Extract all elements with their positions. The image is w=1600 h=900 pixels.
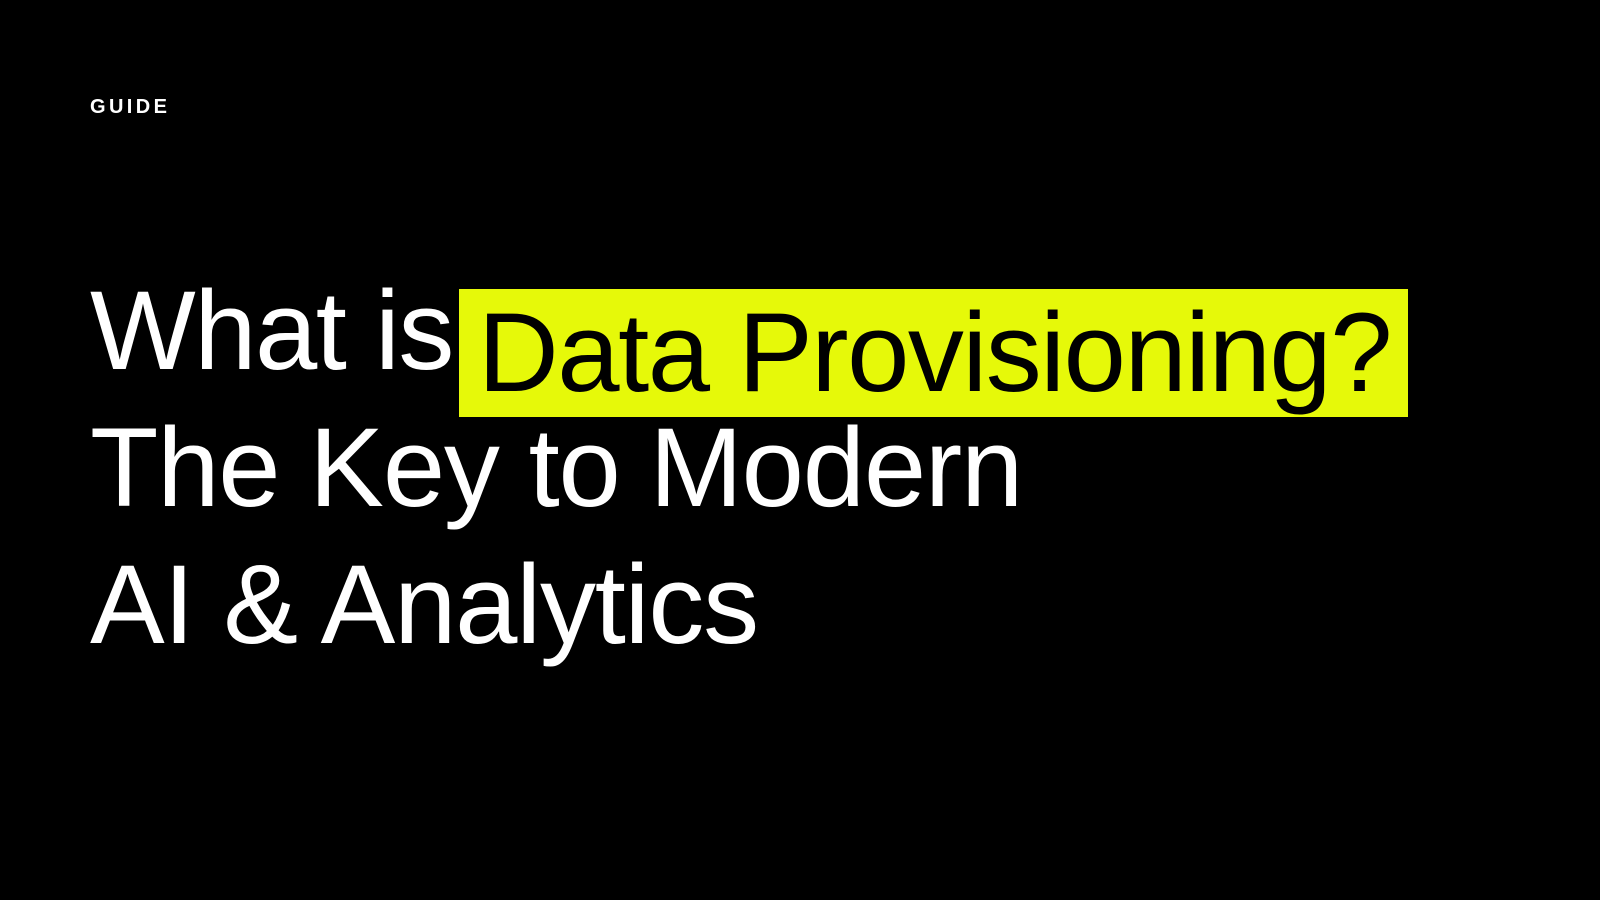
headline-plain-text: What is [90,268,453,393]
eyebrow-label: GUIDE [90,94,170,120]
headline-line-2: The Key to Modern [90,399,1510,536]
page-title: What isData Provisioning? The Key to Mod… [90,262,1510,673]
headline-line-3: AI & Analytics [90,536,1510,673]
headline-highlighted-text: Data Provisioning? [459,289,1408,417]
headline-line-1: What isData Provisioning? [90,262,1510,399]
hero-card: GUIDE What isData Provisioning? The Key … [0,0,1600,900]
